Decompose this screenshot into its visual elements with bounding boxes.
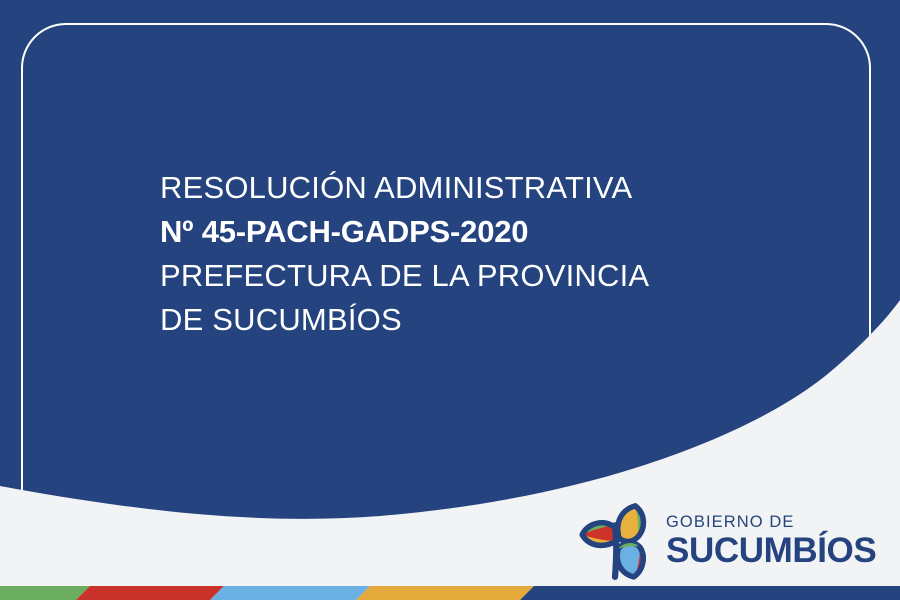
title-line-2-resolution-number: Nº 45-PACH-GADPS-2020 xyxy=(160,210,800,254)
sucumbios-leaf-emblem-icon xyxy=(576,502,654,580)
government-logo: GOBIERNO DE SUCUMBÍOS xyxy=(576,500,876,582)
strip-segment-green xyxy=(0,586,90,600)
page-title: RESOLUCIÓN ADMINISTRATIVA Nº 45-PACH-GAD… xyxy=(160,166,800,342)
strip-segment-red xyxy=(76,586,224,600)
cover-page: RESOLUCIÓN ADMINISTRATIVA Nº 45-PACH-GAD… xyxy=(0,0,900,600)
title-line-4: DE SUCUMBÍOS xyxy=(160,298,800,342)
logo-wordmark: GOBIERNO DE SUCUMBÍOS xyxy=(666,514,876,569)
strip-segment-navy xyxy=(520,586,900,600)
strip-segment-blue xyxy=(210,586,370,600)
title-line-1: RESOLUCIÓN ADMINISTRATIVA xyxy=(160,166,800,210)
footer-color-strip xyxy=(0,586,900,600)
logo-gobierno-de: GOBIERNO DE xyxy=(666,514,876,531)
strip-segment-yellow xyxy=(356,586,534,600)
title-line-3: PREFECTURA DE LA PROVINCIA xyxy=(160,254,800,298)
logo-sucumbios: SUCUMBÍOS xyxy=(666,533,876,568)
